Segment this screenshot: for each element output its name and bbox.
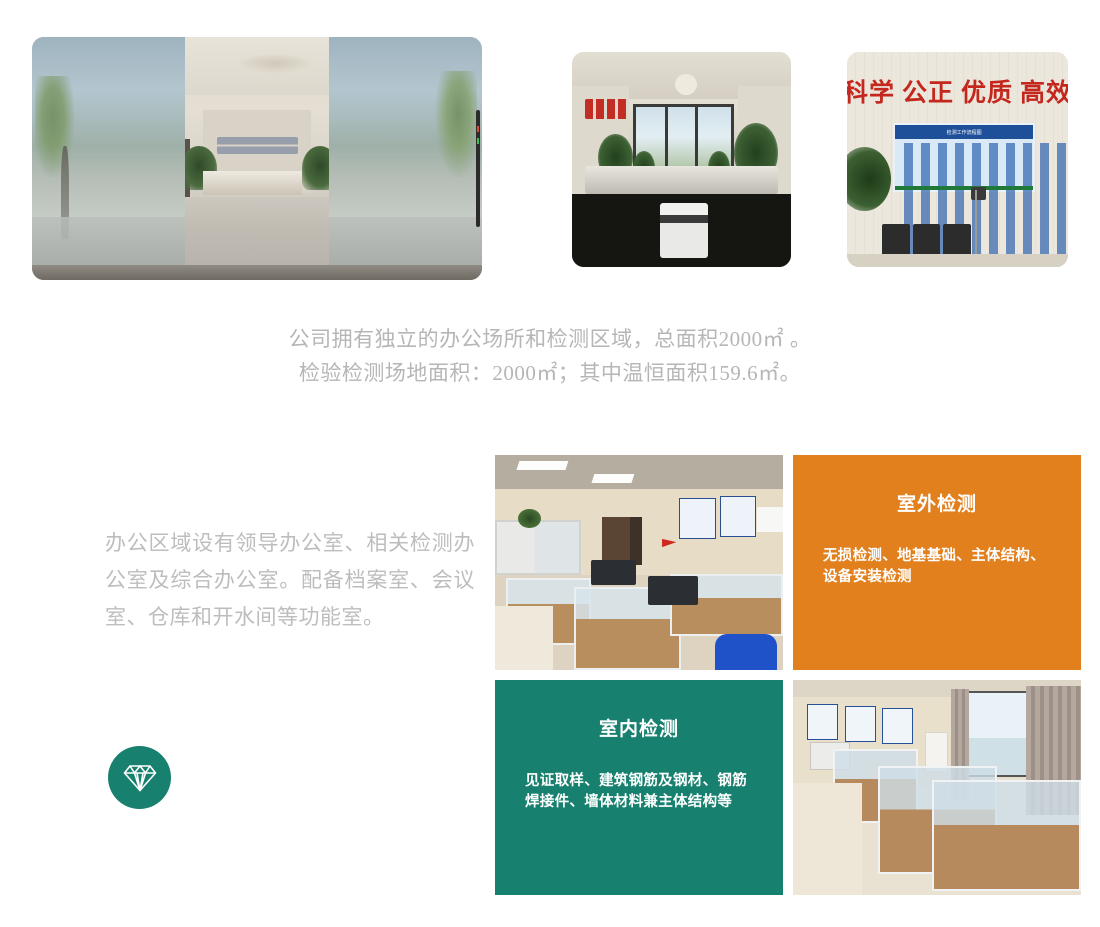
- meeting-printer: [660, 203, 708, 259]
- detection-grid: 室外检测 无损检测、地基基础、主体结构、设备安装检测 室内检测 见证取样、建筑钢…: [495, 455, 1080, 895]
- lobby-reception-desk: [203, 171, 302, 195]
- card-outdoor-body: 无损检测、地基基础、主体结构、设备安装检测: [823, 546, 1051, 588]
- card-indoor-body: 见证取样、建筑钢筋及钢材、钢筋焊接件、墙体材料兼主体结构等: [525, 771, 753, 813]
- officeA-poster-2: [720, 496, 757, 537]
- slogan-word-1: 科学: [847, 73, 895, 109]
- officeB-floor: [793, 783, 862, 895]
- lobby-glass-left: [32, 37, 185, 280]
- photo-slogan-wall: 科学 公正 优质 高效 检测工作流程图: [847, 52, 1068, 267]
- intro-line-2: 检验检测场地面积：2000㎡；其中温恒面积159.6㎡。: [0, 356, 1100, 390]
- meeting-table: [585, 166, 778, 194]
- lobby-threshold-strip: [32, 265, 482, 280]
- officeA-floor: [495, 606, 553, 671]
- card-indoor-title: 室内检测: [525, 714, 753, 741]
- photo-company-lobby-entrance: [32, 37, 482, 280]
- lobby-wall-sign: [217, 137, 298, 154]
- photo-office-open-plan: [495, 455, 783, 670]
- panel-led-green: [477, 138, 479, 144]
- slogan-word-2: 公正: [902, 73, 954, 109]
- gem-badge-circle: [108, 746, 171, 809]
- workflow-poster-footer: [895, 186, 1032, 190]
- officeA-monitor-1: [591, 560, 636, 585]
- meeting-red-banner: [585, 99, 629, 118]
- officeA-ceiling-light-2: [592, 474, 635, 483]
- officeB-poster-2: [845, 706, 876, 742]
- officeA-ceiling-light-1: [517, 461, 569, 470]
- officeA-poster-1: [679, 498, 716, 539]
- card-indoor-detection[interactable]: 室内检测 见证取样、建筑钢筋及钢材、钢筋焊接件、墙体材料兼主体结构等: [495, 680, 783, 895]
- panel-led-red: [477, 126, 479, 132]
- gem-badge: [108, 746, 171, 809]
- office-description-text: 办公区域设有领导办公室、相关检测办公室及综合办公室。配备档案室、会议室、仓库和开…: [105, 531, 475, 629]
- office-description-paragraph: 办公区域设有领导办公室、相关检测办公室及综合办公室。配备档案室、会议室、仓库和开…: [105, 525, 475, 636]
- workflow-poster: 检测工作流程图: [893, 123, 1034, 192]
- intro-paragraph: 公司拥有独立的办公场所和检测区域，总面积2000㎡ 。 检验检测场地面积：200…: [0, 322, 1100, 390]
- slogan-word-3: 优质: [961, 73, 1013, 109]
- door-control-panel: [476, 110, 480, 227]
- page-root: 科学 公正 优质 高效 检测工作流程图 公司拥有独立的办公场所和检测区域，总面积…: [0, 0, 1100, 927]
- officeB-poster-1: [807, 704, 838, 740]
- slogan-text-row: 科学 公正 优质 高效: [847, 74, 1068, 108]
- officeB-cubicle-3: [932, 780, 1081, 891]
- diamond-icon: [123, 763, 157, 793]
- lobby-glass-right: [329, 37, 482, 280]
- device-cable: [975, 190, 977, 255]
- officeA-plant: [518, 509, 541, 528]
- officeA-monitor-2: [648, 576, 699, 605]
- officeB-workstations: [833, 749, 1081, 891]
- meeting-pendant-lamp: [675, 74, 697, 96]
- reflection-tree-right: [435, 71, 478, 178]
- reflection-tree-left: [35, 76, 75, 178]
- intro-line-1: 公司拥有独立的办公场所和检测区域，总面积2000㎡ 。: [0, 322, 1100, 356]
- slogan-word-4: 高效: [1020, 73, 1068, 109]
- officeB-poster-3: [882, 708, 913, 744]
- photo-office-cubicles: [793, 680, 1081, 895]
- workflow-poster-title: 检测工作流程图: [895, 125, 1032, 139]
- officeA-chair: [715, 634, 777, 670]
- slogan-room-floor: [847, 254, 1068, 267]
- card-outdoor-detection[interactable]: 室外检测 无损检测、地基基础、主体结构、设备安装检测: [793, 455, 1081, 670]
- officeA-poster-3: [757, 507, 783, 533]
- wall-mounted-device: [971, 187, 986, 200]
- photo-meeting-room: [572, 52, 791, 267]
- card-outdoor-title: 室外检测: [823, 489, 1051, 516]
